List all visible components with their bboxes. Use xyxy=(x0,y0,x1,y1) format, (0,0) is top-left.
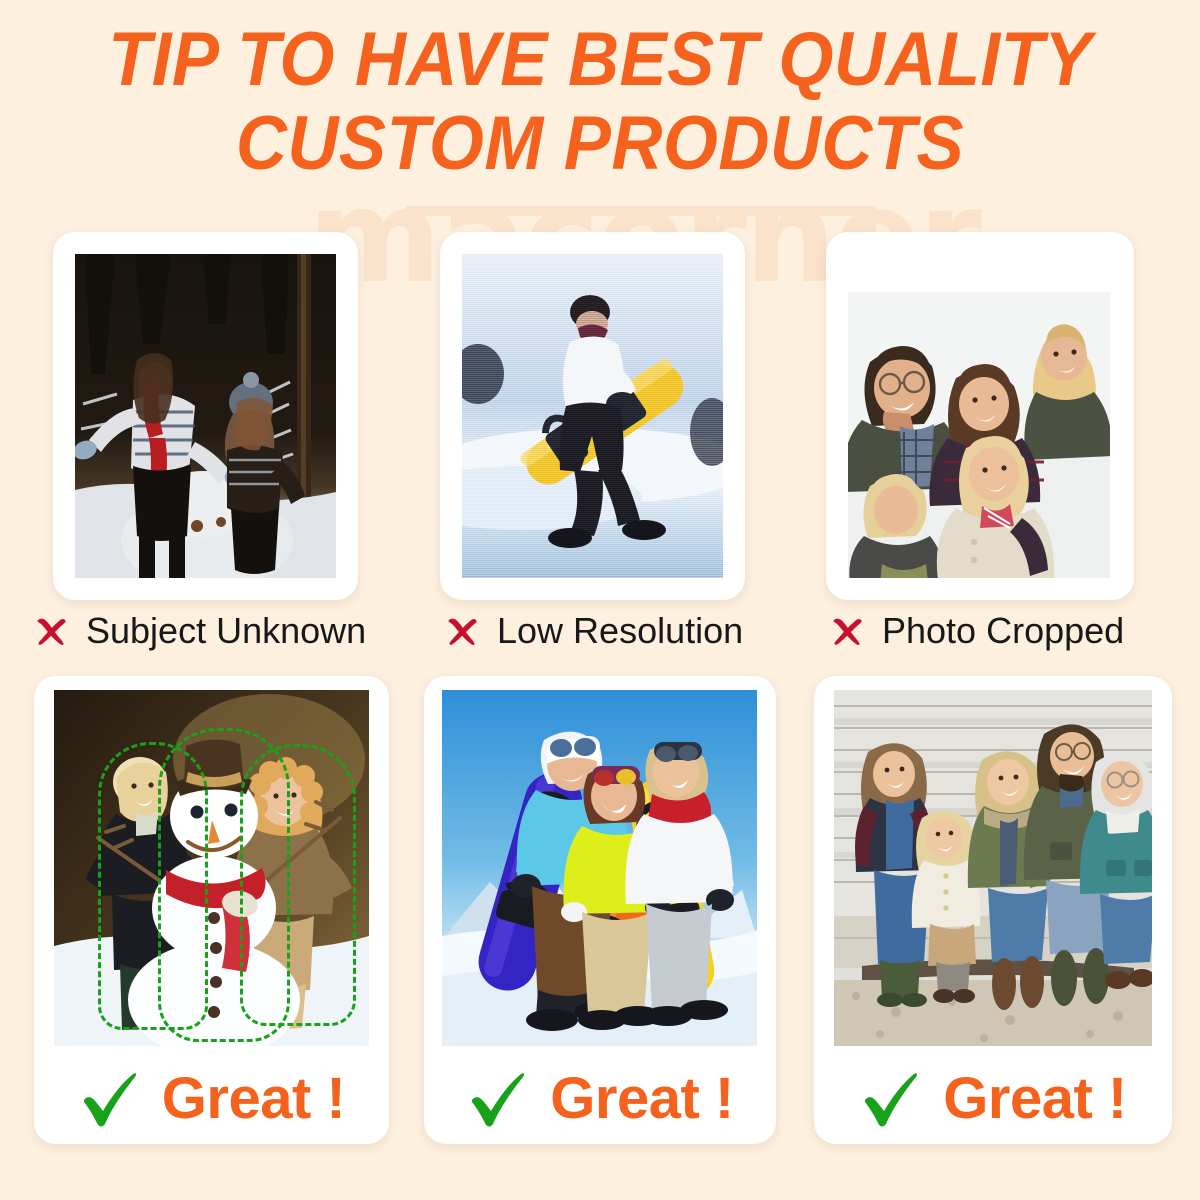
bad-caption-label: Photo Cropped xyxy=(882,610,1124,652)
x-icon xyxy=(443,611,483,651)
good-caption-label: Great ! xyxy=(162,1065,345,1132)
page-title: TIP TO HAVE BEST QUALITY CUSTOM PRODUCTS xyxy=(0,18,1200,186)
good-example-card-snowboarders[interactable]: Great ! xyxy=(424,676,776,1144)
good-example-card-family[interactable]: Great ! xyxy=(814,676,1172,1144)
bad-caption-subject-unknown: Subject Unknown xyxy=(32,608,366,654)
x-icon xyxy=(828,611,868,651)
bad-example-card-subject-unknown[interactable] xyxy=(53,232,358,600)
bad-example-card-photo-cropped[interactable] xyxy=(826,232,1134,600)
photo-low-resolution xyxy=(462,254,723,578)
good-caption-family: Great ! xyxy=(814,1065,1172,1132)
good-caption-snowboarders: Great ! xyxy=(424,1065,776,1132)
bad-caption-low-resolution: Low Resolution xyxy=(443,608,743,654)
photo-snowman-outlined xyxy=(54,690,369,1046)
bad-example-card-low-resolution[interactable] xyxy=(440,232,745,600)
check-icon xyxy=(78,1068,140,1130)
check-icon xyxy=(466,1068,528,1130)
good-caption-label: Great ! xyxy=(943,1065,1126,1132)
photo-subject-unknown xyxy=(75,254,336,578)
photo-cropped xyxy=(848,292,1110,578)
low-resolution-noise xyxy=(462,254,723,578)
bad-caption-label: Subject Unknown xyxy=(86,610,366,652)
check-icon xyxy=(859,1068,921,1130)
good-caption-label: Great ! xyxy=(550,1065,733,1132)
good-example-card-snowman[interactable]: Great ! xyxy=(34,676,389,1144)
page-title-line-1: TIP TO HAVE BEST QUALITY xyxy=(42,18,1158,102)
page-title-line-2: CUSTOM PRODUCTS xyxy=(42,102,1158,186)
good-caption-snowman: Great ! xyxy=(34,1065,389,1132)
photo-three-snowboarders xyxy=(442,690,757,1046)
bad-caption-photo-cropped: Photo Cropped xyxy=(828,608,1124,654)
bad-caption-label: Low Resolution xyxy=(497,610,743,652)
photo-family-of-five xyxy=(834,690,1152,1046)
x-icon xyxy=(32,611,72,651)
